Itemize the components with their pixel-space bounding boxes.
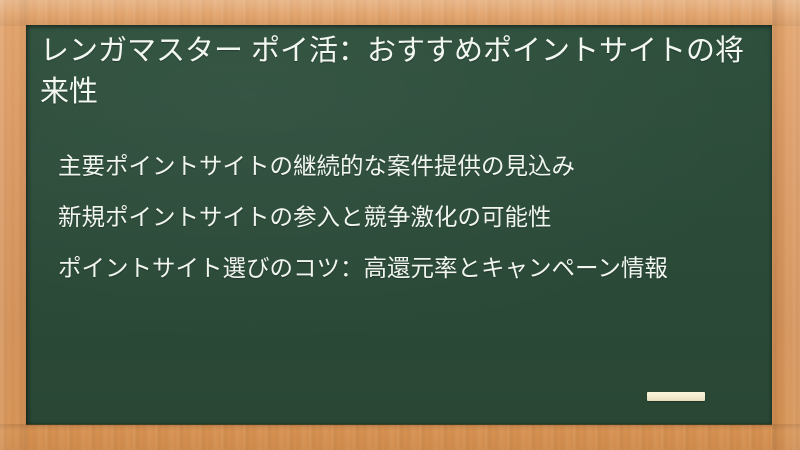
frame-bevel-left (0, 0, 26, 450)
page-title: レンガマスター ポイ活：おすすめポイントサイトの将来性 (40, 31, 750, 113)
blackboard-frame: レンガマスター ポイ活：おすすめポイントサイトの将来性 主要ポイントサイトの継続… (0, 0, 800, 450)
chalk-stick-icon (647, 392, 705, 401)
chalkboard-surface: レンガマスター ポイ活：おすすめポイントサイトの将来性 主要ポイントサイトの継続… (26, 25, 772, 425)
list-item: ポイントサイト選びのコツ：高還元率とキャンペーン情報 (58, 252, 758, 285)
frame-bevel-bottom (0, 424, 800, 450)
frame-bevel-right (772, 0, 800, 450)
list-item: 主要ポイントサイトの継続的な案件提供の見込み (58, 150, 758, 183)
board-ledge-shadow (26, 424, 772, 426)
topic-list: 主要ポイントサイトの継続的な案件提供の見込み 新規ポイントサイトの参入と競争激化… (58, 150, 758, 285)
frame-bevel-top (0, 0, 800, 26)
list-item: 新規ポイントサイトの参入と競争激化の可能性 (58, 201, 758, 234)
